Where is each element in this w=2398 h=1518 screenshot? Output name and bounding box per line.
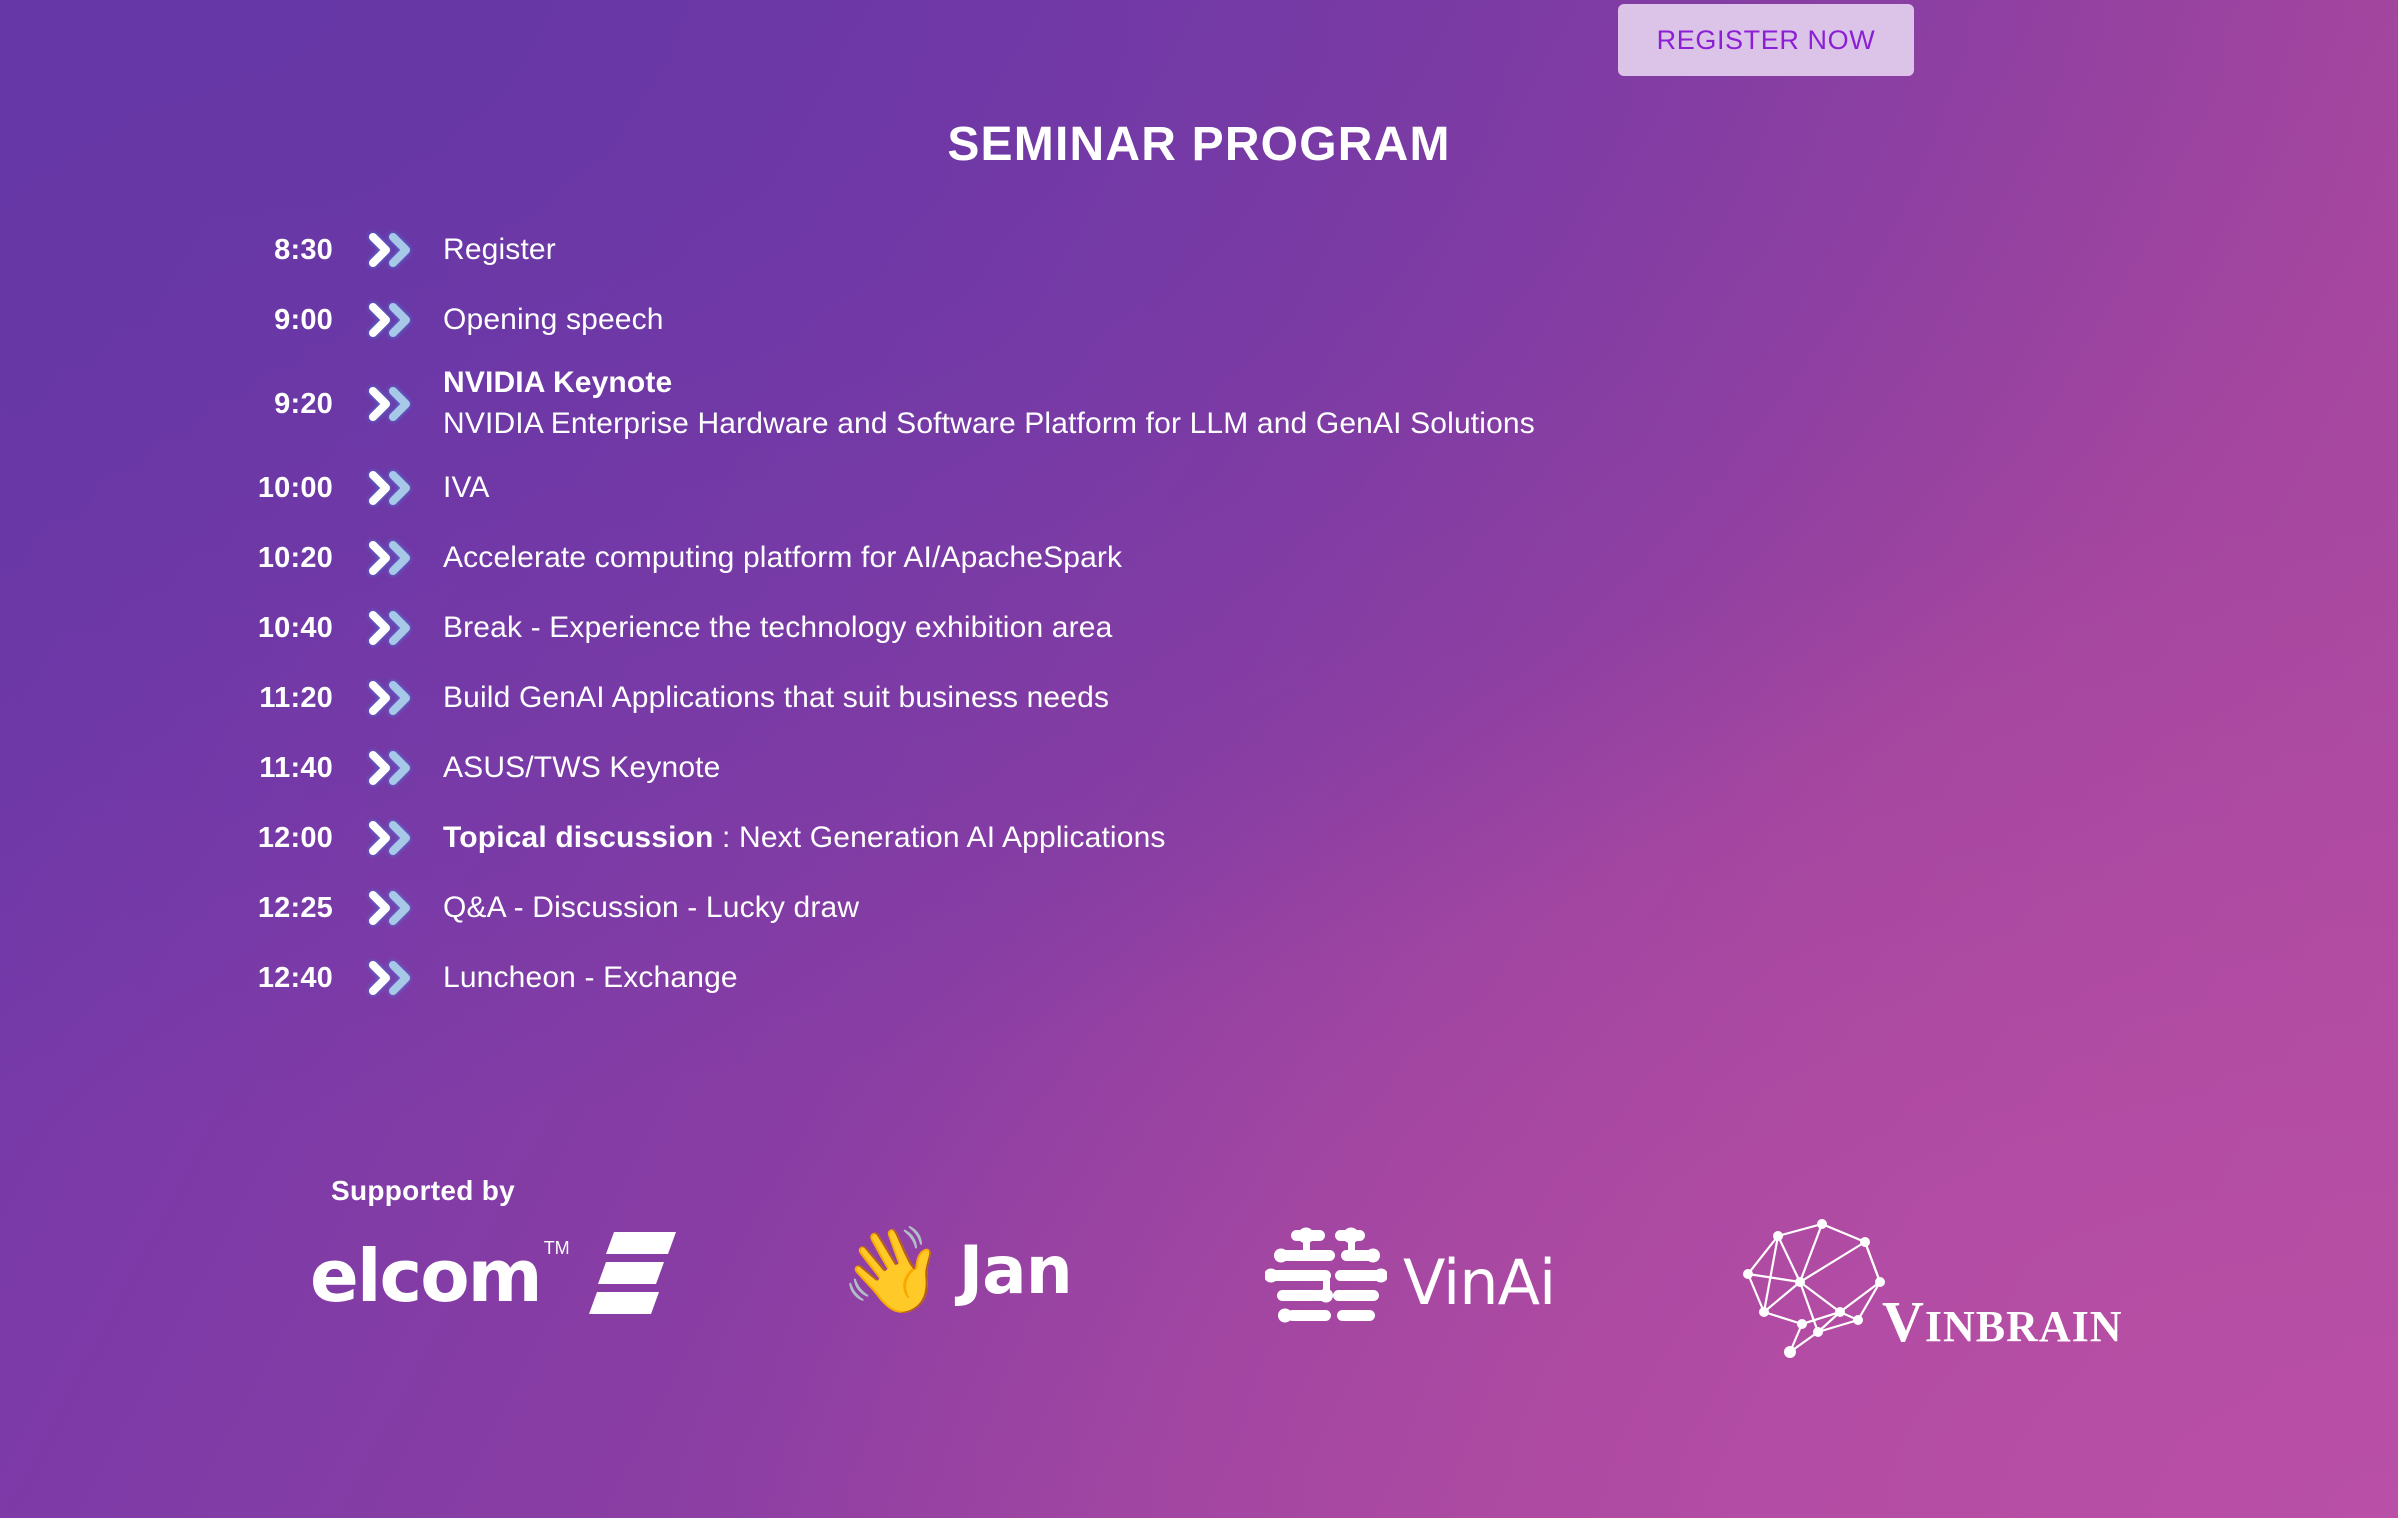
schedule-title: Luncheon - Exchange [443, 961, 738, 994]
schedule-row: 10:20 Accelerate computing platform for … [0, 523, 2398, 593]
sponsor-logo-jan[interactable]: 👋 Jan [840, 1228, 1072, 1312]
double-chevron-icon [365, 384, 417, 424]
schedule-title: NVIDIA Keynote [443, 366, 672, 399]
schedule-time: 9:00 [233, 304, 333, 337]
schedule-subtitle: NVIDIA Enterprise Hardware and Software … [443, 404, 1535, 445]
elcom-e-mark-icon [584, 1230, 676, 1321]
supported-by-label: Supported by [331, 1175, 515, 1207]
schedule-description: Build GenAI Applications that suit busin… [443, 678, 1109, 719]
schedule-description: IVA [443, 468, 490, 509]
schedule-time: 12:40 [233, 962, 333, 995]
schedule-time: 12:25 [233, 892, 333, 925]
schedule-row: 10:40 Break - Experience the technology … [0, 593, 2398, 663]
vinbrain-initial: V [1882, 1289, 1925, 1354]
schedule-title: Build GenAI Applications that suit busin… [443, 681, 1109, 714]
schedule-row: 11:40 ASUS/TWS Keynote [0, 733, 2398, 803]
schedule-description: NVIDIA KeynoteNVIDIA Enterprise Hardware… [443, 363, 1535, 445]
page-title: SEMINAR PROGRAM [0, 117, 2398, 172]
schedule-time: 9:20 [233, 388, 333, 421]
sponsor-logo-vinai[interactable]: VinAi [1265, 1224, 1555, 1341]
schedule-row: 8:30 Register [0, 215, 2398, 285]
schedule-row: 12:00 Topical discussion : Next Generati… [0, 803, 2398, 873]
schedule-description: ASUS/TWS Keynote [443, 748, 721, 789]
schedule-title: Register [443, 233, 556, 266]
schedule-title: Break - Experience the technology exhibi… [443, 611, 1112, 644]
double-chevron-icon [365, 230, 417, 270]
jan-wordmark: Jan [959, 1232, 1072, 1309]
schedule-description: Accelerate computing platform for AI/Apa… [443, 538, 1122, 579]
schedule-time: 10:40 [233, 612, 333, 645]
schedule-title: ASUS/TWS Keynote [443, 751, 721, 784]
schedule-row: 12:40 Luncheon - Exchange [0, 943, 2398, 1013]
schedule-title-suffix: : Next Generation AI Applications [714, 821, 1166, 854]
double-chevron-icon [365, 468, 417, 508]
double-chevron-icon [365, 678, 417, 718]
elcom-wordmark: elcom [310, 1240, 541, 1312]
schedule-description: Topical discussion : Next Generation AI … [443, 818, 1166, 859]
schedule-description: Opening speech [443, 300, 664, 341]
double-chevron-icon [365, 608, 417, 648]
sponsor-logo-elcom[interactable]: elcom TM [310, 1230, 676, 1321]
register-now-button[interactable]: REGISTER NOW [1618, 4, 1914, 76]
schedule-time: 8:30 [233, 234, 333, 267]
schedule-description: Register [443, 230, 556, 271]
sponsor-logo-row: elcom TM 👋 Jan [300, 1218, 2300, 1358]
schedule-row: 9:00 Opening speech [0, 285, 2398, 355]
schedule-row: 11:20 Build GenAI Applications that suit… [0, 663, 2398, 733]
double-chevron-icon [365, 538, 417, 578]
vinai-wordmark: VinAi [1403, 1246, 1555, 1319]
schedule-time: 10:20 [233, 542, 333, 575]
vinbrain-wordmark: VINBRAIN [1882, 1288, 2123, 1355]
schedule-row: 9:20 NVIDIA KeynoteNVIDIA Enterprise Har… [0, 355, 2398, 453]
schedule-title: Topical discussion [443, 821, 714, 854]
vinai-circuit-icon [1265, 1224, 1387, 1341]
double-chevron-icon [365, 888, 417, 928]
polygonal-brain-icon [1730, 1212, 1900, 1365]
schedule-title: Accelerate computing platform for AI/Apa… [443, 541, 1122, 574]
trademark-symbol: TM [544, 1238, 570, 1259]
schedule-time: 11:20 [233, 682, 333, 715]
schedule-title: Q&A - Discussion - Lucky draw [443, 891, 859, 924]
schedule-time: 12:00 [233, 822, 333, 855]
sponsor-logo-vinbrain[interactable]: VINBRAIN [1730, 1212, 2123, 1365]
schedule-description: Break - Experience the technology exhibi… [443, 608, 1112, 649]
schedule-title: IVA [443, 471, 490, 504]
vinbrain-rest: INBRAIN [1925, 1302, 2123, 1351]
schedule-row: 10:00 IVA [0, 453, 2398, 523]
schedule-description: Q&A - Discussion - Lucky draw [443, 888, 859, 929]
waving-hand-icon: 👋 [840, 1228, 945, 1312]
schedule-time: 10:00 [233, 472, 333, 505]
schedule-description: Luncheon - Exchange [443, 958, 738, 999]
double-chevron-icon [365, 748, 417, 788]
schedule-time: 11:40 [233, 752, 333, 785]
double-chevron-icon [365, 958, 417, 998]
schedule-row: 12:25 Q&A - Discussion - Lucky draw [0, 873, 2398, 943]
seminar-schedule-list: 8:30 Register9:00 Opening speech9:20 NVI… [0, 215, 2398, 1013]
double-chevron-icon [365, 300, 417, 340]
double-chevron-icon [365, 818, 417, 858]
schedule-title: Opening speech [443, 303, 664, 336]
